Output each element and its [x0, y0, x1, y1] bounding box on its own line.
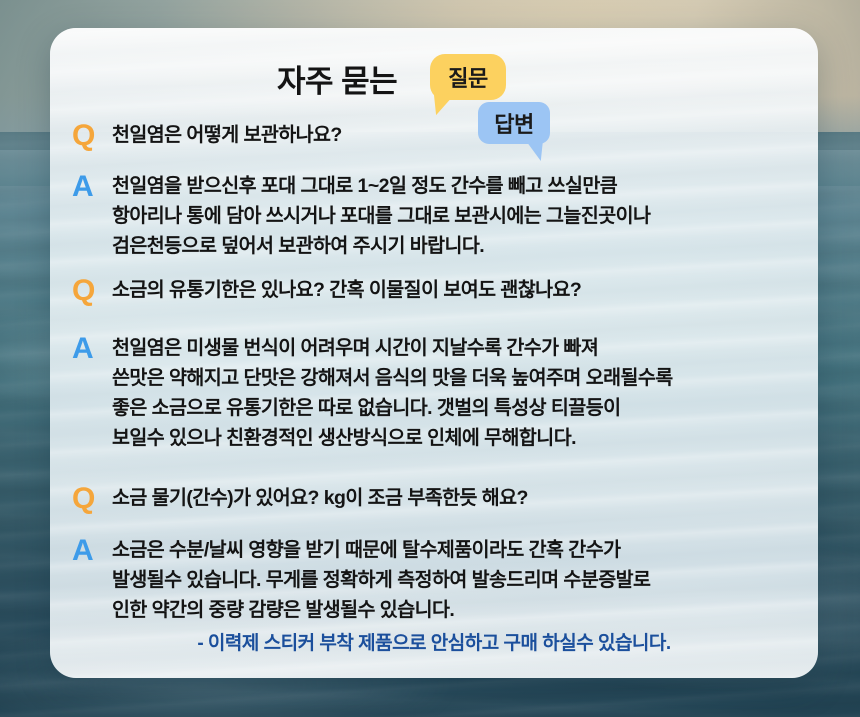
faq-line: 소금은 수분/날씨 영향을 받기 때문에 탈수제품이라도 간혹 간수가 — [112, 535, 800, 565]
faq-question: Q소금의 유통기한은 있나요? 간혹 이물질이 보여도 괜찮나요? — [72, 275, 800, 306]
faq-line: 발생될수 있습니다. 무게를 정확하게 측정하여 발송드리며 수분증발로 — [112, 565, 800, 595]
faq-line: 보일수 있으나 친환경적인 생산방식으로 인체에 무해합니다. — [112, 423, 800, 453]
faq-answer: A소금은 수분/날씨 영향을 받기 때문에 탈수제품이라도 간혹 간수가발생될수… — [72, 535, 800, 625]
question-bubble-label: 질문 — [448, 61, 487, 93]
answer-marker-icon: A — [72, 171, 112, 202]
faq-line: 인한 약간의 중량 감량은 발생될수 있습니다. — [112, 595, 800, 625]
ocean-background: 자주 묻는 질문 답변 Q천일염은 어떻게 보관하나요?A천일염을 받으신후 포… — [0, 0, 860, 717]
faq-line: 좋은 소금으로 유통기한은 따로 없습니다. 갯벌의 특성상 티끌등이 — [112, 393, 800, 423]
faq-answer: A천일염을 받으신후 포대 그대로 1~2일 정도 간수를 빼고 쓰실만큼항아리… — [72, 171, 800, 261]
question-bubble-tail — [434, 93, 458, 115]
question-marker-icon: Q — [72, 483, 112, 514]
faq-question: Q소금 물기(간수)가 있어요? kg이 조금 부족한듯 해요? — [72, 483, 800, 514]
title-row: 자주 묻는 질문 답변 — [50, 42, 818, 98]
faq-line: 항아리나 통에 담아 쓰시거나 포대를 그대로 보관시에는 그늘진곳이나 — [112, 201, 800, 231]
answer-marker-icon: A — [72, 535, 112, 566]
faq-text-block: 소금의 유통기한은 있나요? 간혹 이물질이 보여도 괜찮나요? — [112, 275, 800, 305]
faq-line: 천일염을 받으신후 포대 그대로 1~2일 정도 간수를 빼고 쓰실만큼 — [112, 171, 800, 201]
faq-question: Q천일염은 어떻게 보관하나요? — [72, 120, 800, 151]
faq-line: 쓴맛은 약해지고 단맛은 강해져서 음식의 맛을 더욱 높여주며 오래될수록 — [112, 363, 800, 393]
faq-card: 자주 묻는 질문 답변 Q천일염은 어떻게 보관하나요?A천일염을 받으신후 포… — [50, 28, 818, 678]
footer-note: - 이력제 스티커 부착 제품으로 안심하고 구매 하실수 있습니다. — [50, 628, 818, 655]
question-marker-icon: Q — [72, 120, 112, 151]
question-bubble: 질문 — [430, 54, 506, 100]
faq-answer: A천일염은 미생물 번식이 어려우며 시간이 지날수록 간수가 빠져쓴맛은 약해… — [72, 333, 800, 453]
faq-line: 검은천등으로 덮어서 보관하여 주시기 바랍니다. — [112, 231, 800, 261]
question-marker-icon: Q — [72, 275, 112, 306]
faq-text-block: 천일염을 받으신후 포대 그대로 1~2일 정도 간수를 빼고 쓰실만큼항아리나… — [112, 171, 800, 261]
answer-marker-icon: A — [72, 333, 112, 364]
faq-line: 천일염은 어떻게 보관하나요? — [112, 120, 800, 150]
faq-line: 소금 물기(간수)가 있어요? kg이 조금 부족한듯 해요? — [112, 483, 800, 513]
faq-text-block: 소금 물기(간수)가 있어요? kg이 조금 부족한듯 해요? — [112, 483, 800, 513]
faq-text-block: 천일염은 미생물 번식이 어려우며 시간이 지날수록 간수가 빠져쓴맛은 약해지… — [112, 333, 800, 453]
page-title: 자주 묻는 — [277, 56, 397, 101]
faq-text-block: 소금은 수분/날씨 영향을 받기 때문에 탈수제품이라도 간혹 간수가발생될수 … — [112, 535, 800, 625]
faq-line: 소금의 유통기한은 있나요? 간혹 이물질이 보여도 괜찮나요? — [112, 275, 800, 305]
faq-line: 천일염은 미생물 번식이 어려우며 시간이 지날수록 간수가 빠져 — [112, 333, 800, 363]
faq-text-block: 천일염은 어떻게 보관하나요? — [112, 120, 800, 150]
